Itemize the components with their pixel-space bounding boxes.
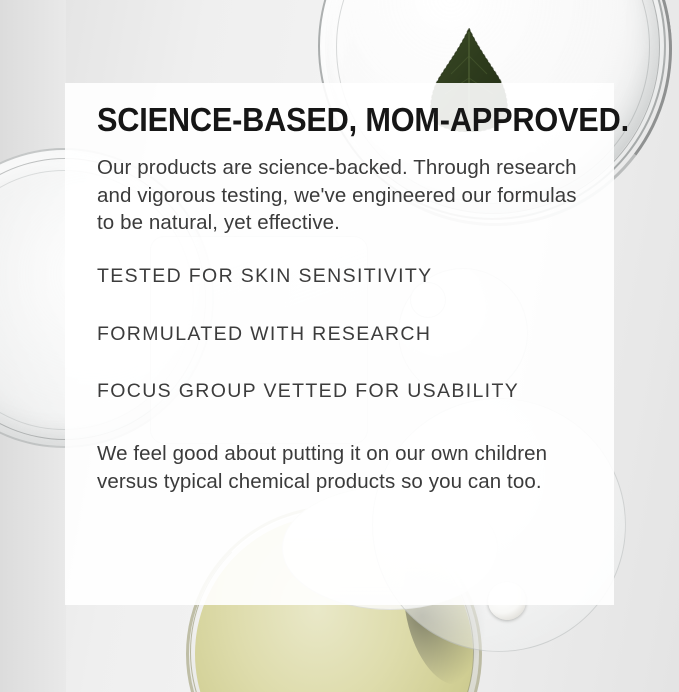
feature-item-formulated: FORMULATED WITH RESEARCH: [97, 325, 588, 345]
feature-list: TESTED FOR SKIN SENSITIVITY FORMULATED W…: [97, 267, 588, 402]
feature-item-tested: TESTED FOR SKIN SENSITIVITY: [97, 267, 588, 287]
text-panel: SCIENCE-BASED, MOM-APPROVED. Our product…: [65, 83, 614, 605]
closing-paragraph: We feel good about putting it on our own…: [97, 440, 567, 496]
page-title: SCIENCE-BASED, MOM-APPROVED.: [97, 103, 554, 138]
feature-item-focus-group: FOCUS GROUP VETTED FOR USABILITY: [97, 382, 588, 402]
promotional-graphic: SCIENCE-BASED, MOM-APPROVED. Our product…: [0, 0, 679, 692]
lede-paragraph: Our products are science-backed. Through…: [97, 154, 577, 238]
